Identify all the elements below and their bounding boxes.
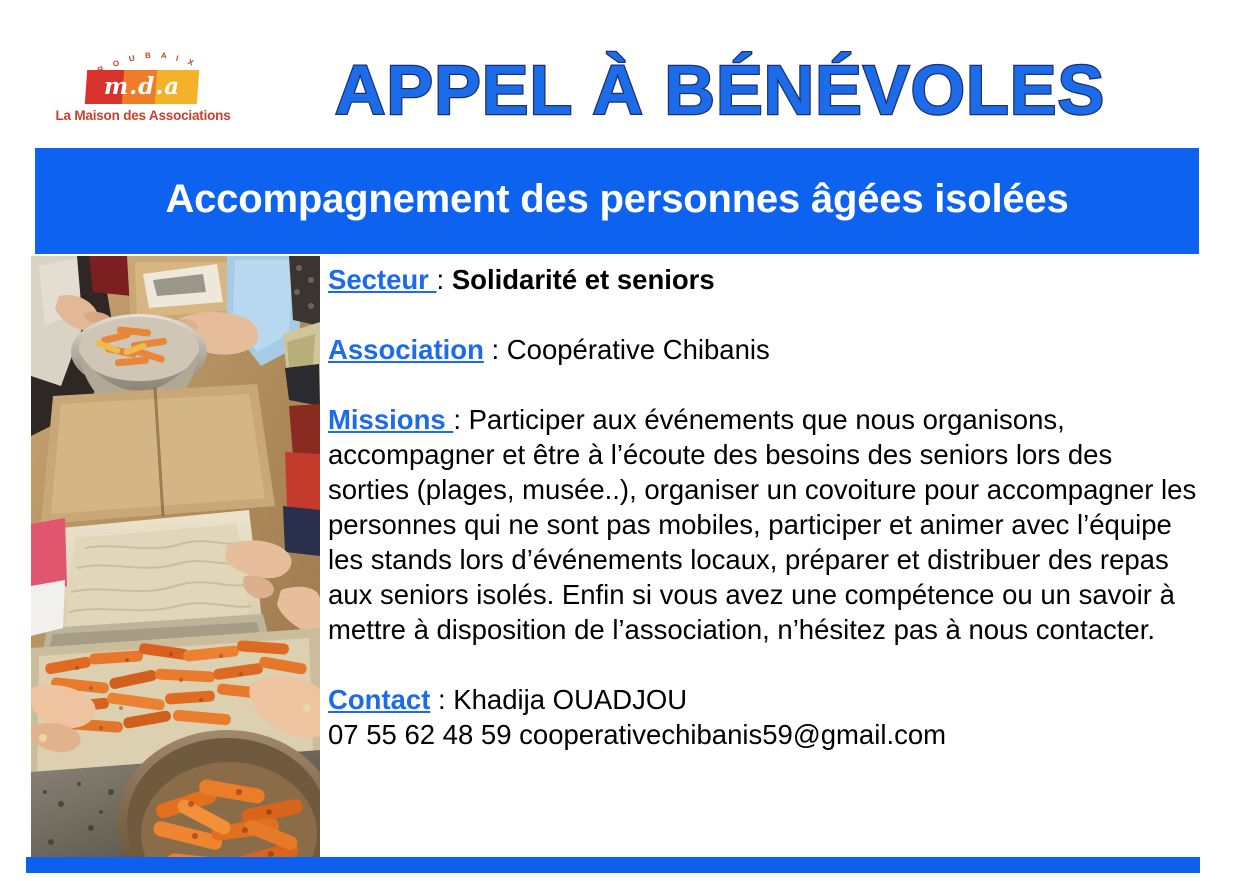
contact-phone[interactable]: 07 55 62 48 59 bbox=[328, 719, 512, 750]
secteur-line: Secteur : Solidarité et seniors bbox=[328, 262, 1198, 297]
association-value: Coopérative Chibanis bbox=[507, 334, 770, 365]
spacer-3 bbox=[328, 647, 1198, 682]
contact-line: Contact : Khadija OUADJOU bbox=[328, 682, 1198, 717]
contact-label: Contact bbox=[328, 684, 430, 715]
mda-acronym-mark: m.d.a bbox=[86, 70, 198, 104]
association-separator: : bbox=[484, 334, 507, 365]
bottom-accent-bar bbox=[26, 857, 1200, 873]
poster-body: Secteur : Solidarité et seniors Associat… bbox=[328, 262, 1198, 752]
photo-illustration bbox=[31, 256, 320, 858]
volunteers-preparing-food-photo bbox=[31, 256, 320, 858]
contact-details-line: 07 55 62 48 59 cooperativechibanis59@gma… bbox=[328, 717, 1198, 752]
association-line: Association : Coopérative Chibanis bbox=[328, 332, 1198, 367]
secteur-value: Solidarité et seniors bbox=[452, 264, 715, 295]
missions-value: Participer aux événements que nous organ… bbox=[328, 404, 1196, 645]
missions-paragraph: Missions : Participer aux événements que… bbox=[328, 402, 1198, 647]
mda-roubaix-logo: R O U B A I X m.d.a La Maison des Associ… bbox=[48, 48, 238, 136]
contact-email[interactable]: cooperativechibanis59@gmail.com bbox=[519, 719, 946, 750]
subtitle-text: Accompagnement des personnes âgées isolé… bbox=[35, 177, 1199, 226]
contact-separator: : bbox=[430, 684, 453, 715]
mda-acronym-text: m.d.a bbox=[86, 70, 198, 104]
association-label: Association bbox=[328, 334, 484, 365]
spacer-2 bbox=[328, 367, 1198, 402]
logo-organisation-name: La Maison des Associations bbox=[48, 108, 238, 123]
contact-name: Khadija OUADJOU bbox=[453, 684, 687, 715]
poster-header: R O U B A I X m.d.a La Maison des Associ… bbox=[0, 0, 1237, 148]
missions-label: Missions bbox=[328, 404, 453, 435]
secteur-separator: : bbox=[437, 264, 452, 295]
volunteer-call-poster: R O U B A I X m.d.a La Maison des Associ… bbox=[0, 0, 1237, 881]
page-title: APPEL À BÉNÉVOLES bbox=[255, 50, 1185, 130]
secteur-label: Secteur bbox=[328, 264, 437, 295]
spacer-1 bbox=[328, 297, 1198, 332]
subtitle-banner: Accompagnement des personnes âgées isolé… bbox=[35, 148, 1199, 254]
missions-separator: : bbox=[453, 404, 468, 435]
